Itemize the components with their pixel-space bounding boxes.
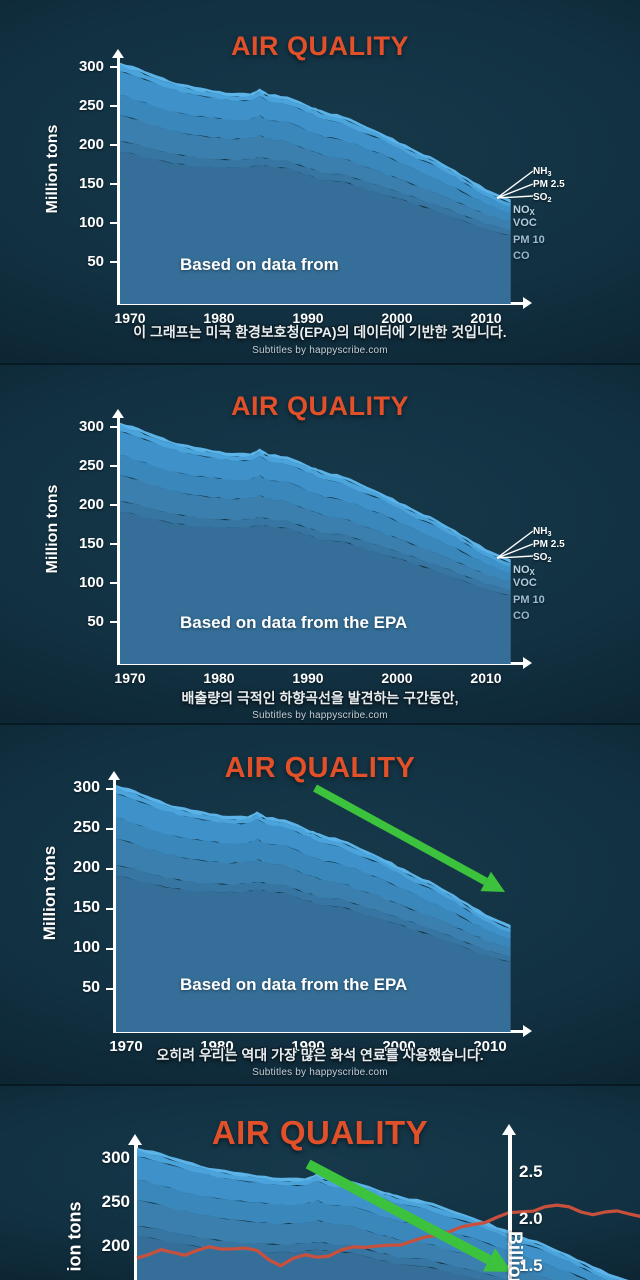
y-tick-label: 300 (88, 1148, 130, 1168)
y-tick-label: 100 (58, 574, 104, 591)
source-note: Based on data from the EPA (180, 613, 407, 633)
legend-item-voc: VOC (513, 578, 537, 589)
subtitle-line: 이 그래프는 미국 환경보호청(EPA)의 데이터에 기반한 것입니다. (0, 322, 640, 342)
y-tick-label: 250 (58, 97, 104, 114)
legend-item-pm10: PM 10 (513, 235, 545, 246)
legend-item-nox: NOX (513, 565, 535, 576)
legend-label: PM 2.5 (533, 179, 565, 190)
legend-item-co: CO (513, 611, 530, 622)
y-tick-label: 50 (58, 613, 104, 630)
legend-label: CO (513, 250, 530, 262)
legend-label: PM 2.5 (533, 539, 565, 550)
legend-item-nh3: NH3 (533, 527, 551, 537)
x-tick-label: 1970 (100, 670, 160, 686)
y-tick (110, 426, 117, 428)
y-tick (106, 908, 113, 910)
legend-sub: X (530, 568, 535, 577)
y-tick-label: 200 (58, 496, 104, 513)
legend-item-nox: NOX (513, 205, 535, 216)
y-tick (110, 183, 117, 185)
y-axis-right-arrow-icon (502, 1124, 516, 1135)
y-tick-label: 150 (58, 535, 104, 552)
legend-item-pm25: PM 2.5 (533, 540, 565, 550)
y-axis-title: Million tons (44, 469, 62, 589)
legend-sub: 2 (547, 195, 551, 204)
y-tick-label: 300 (58, 58, 104, 75)
video-frame-4: AIR QUALITY 300 250 200 150 ion tons 2.5… (0, 1086, 640, 1280)
y-tick (106, 948, 113, 950)
y-tick-label-right: 1.5 (519, 1256, 565, 1276)
y-tick-label-right: 2.5 (519, 1162, 565, 1182)
legend-item-so2: SO2 (533, 193, 551, 203)
y-tick (110, 66, 117, 68)
legend-sub: 2 (547, 555, 551, 564)
legend-sub: 3 (547, 529, 551, 538)
legend-label: NO (513, 204, 530, 216)
y-tick (106, 828, 113, 830)
y-axis-title: Million tons (40, 831, 60, 955)
subtitle-credit: Subtitles by happyscribe.com (0, 710, 640, 721)
y-tick (110, 621, 117, 623)
legend-label: NH (533, 166, 547, 177)
legend-label: VOC (513, 217, 537, 229)
x-tick-label: 2000 (367, 670, 427, 686)
legend-sub: 3 (547, 169, 551, 178)
x-tick-label: 1980 (189, 670, 249, 686)
legend-item-so2: SO2 (533, 553, 551, 563)
legend-item-pm25: PM 2.5 (533, 180, 565, 190)
y-tick (110, 504, 117, 506)
legend-item-nh3: NH3 (533, 167, 551, 177)
x-tick-label: 1990 (278, 670, 338, 686)
y-tick (110, 465, 117, 467)
y-tick (110, 543, 117, 545)
y-tick-label: 300 (52, 779, 100, 797)
y-axis-right-title: Billion me (503, 1231, 525, 1280)
legend-label: VOC (513, 577, 537, 589)
y-tick (110, 261, 117, 263)
y-tick-label: 300 (58, 418, 104, 435)
y-tick (110, 144, 117, 146)
video-frame-1: AIR QUALITY 300 250 200 150 100 50 Milli… (0, 0, 640, 365)
x-axis-arrow-icon (523, 297, 532, 309)
x-tick-label: 2010 (456, 670, 516, 686)
y-axis-title: Million tons (44, 109, 62, 229)
subtitle-credit: Subtitles by happyscribe.com (0, 1067, 640, 1078)
video-frame-2: AIR QUALITY 300 250 200 150 100 50 Milli… (0, 365, 640, 725)
source-note: Based on data from the EPA (180, 975, 407, 995)
legend-label: SO (533, 552, 547, 563)
subtitle-line: 배출량의 극적인 하향곡선을 발견하는 구간동안, (0, 688, 640, 708)
y-tick (110, 582, 117, 584)
legend-label: PM 10 (513, 234, 545, 246)
subtitle-line: 오히려 우리는 역대 가장 많은 화석 연료를 사용했습니다. (0, 1045, 640, 1065)
x-axis-arrow-icon (523, 657, 532, 669)
y-tick-label: 200 (58, 136, 104, 153)
y-tick-label: 100 (58, 214, 104, 231)
y-tick-label: 50 (52, 979, 100, 997)
legend-sub: X (530, 208, 535, 217)
y-tick (106, 868, 113, 870)
y-tick (106, 788, 113, 790)
legend-label: NO (513, 564, 530, 576)
legend-label: PM 10 (513, 594, 545, 606)
y-axis-title: ion tons (65, 1182, 86, 1280)
y-tick-label: 250 (88, 1192, 130, 1212)
legend-item-co: CO (513, 251, 530, 262)
legend-item-pm10: PM 10 (513, 595, 545, 606)
y-tick-label: 250 (58, 457, 104, 474)
y-tick-label-right: 2.0 (519, 1209, 565, 1229)
x-axis-arrow-icon (523, 1025, 532, 1037)
subtitle-credit: Subtitles by happyscribe.com (0, 345, 640, 356)
stacked-area-plot (137, 1141, 509, 1280)
legend-label: SO (533, 192, 547, 203)
y-tick-label: 200 (88, 1236, 130, 1256)
y-tick (110, 105, 117, 107)
legend-item-voc: VOC (513, 218, 537, 229)
y-tick-label: 150 (58, 175, 104, 192)
source-note: Based on data from (180, 255, 339, 275)
legend-label: NH (533, 526, 547, 537)
y-tick (106, 988, 113, 990)
y-tick-label: 50 (58, 253, 104, 270)
legend-label: CO (513, 610, 530, 622)
video-frame-3: AIR QUALITY 300 250 200 150 100 50 Milli… (0, 725, 640, 1086)
video-frames-collage: AIR QUALITY 300 250 200 150 100 50 Milli… (0, 0, 640, 1280)
y-tick (110, 222, 117, 224)
